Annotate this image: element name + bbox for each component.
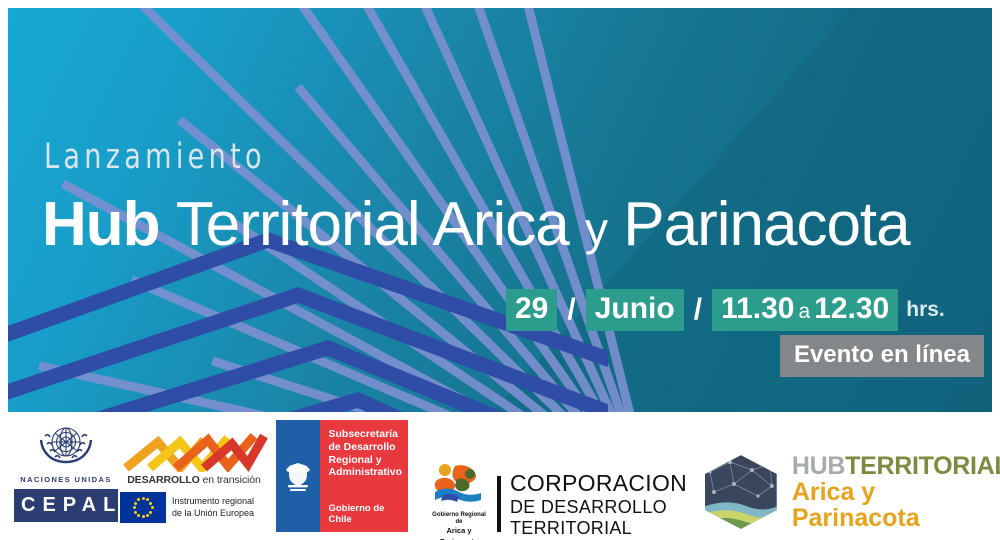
logo-eu-line-1: Instrumento regional xyxy=(172,496,254,506)
logo-corporacion-caption-1: Gobierno Regional de xyxy=(432,512,486,525)
logo-corporacion-line-3: TERRITORIAL xyxy=(510,518,687,539)
logo-cepal-acronym: CEPAL xyxy=(14,489,118,522)
logo-desarrollo-title-rest: en transición xyxy=(200,474,261,486)
time-join: a xyxy=(794,300,814,323)
event-datetime: 29 / Junio / 11.30a12.30 hrs. xyxy=(506,289,945,331)
logo-desarrollo-caption: DESARROLLO en transición xyxy=(120,474,268,486)
zigzag-arrows-icon xyxy=(120,428,268,472)
logo-cepal: NACIONES UNIDAS CEPAL xyxy=(14,418,118,522)
status-badge-online-event: Evento en línea xyxy=(780,335,984,377)
united-nations-icon xyxy=(35,418,97,474)
event-banner: Lanzamiento Hub Territorial Arica y Pari… xyxy=(0,0,1000,540)
title-conjunction: y xyxy=(585,203,607,255)
event-month: Junio xyxy=(586,289,684,331)
logo-corporacion-wordmark: CORPORACION DE DESARROLLO TERRITORIAL xyxy=(510,470,687,538)
logo-corporacion-divider xyxy=(497,476,501,532)
chile-coat-of-arms-icon xyxy=(276,420,320,532)
hexagon-network-icon xyxy=(700,452,782,532)
time-unit: hrs. xyxy=(898,298,945,322)
logo-subdere: Subsecretaría de Desarrollo Regional y A… xyxy=(276,420,408,532)
logo-eu-line-2: de la Unión Europea xyxy=(172,508,254,518)
logo-eu-instrument: Instrumento regional de la Unión Europea xyxy=(120,492,268,523)
logo-hub-word: HUB xyxy=(792,452,845,480)
logo-subdere-line-2: de Desarrollo xyxy=(328,441,402,454)
logo-corporacion-line-1: CORPORACION xyxy=(510,470,687,497)
logo-corporacion-line-2: DE DESARROLLO xyxy=(510,497,687,518)
logo-cepal-organization: NACIONES UNIDAS xyxy=(14,475,118,484)
logo-desarrollo-title-bold: DESARROLLO xyxy=(127,474,200,486)
logo-hub-region: Arica y Parinacota xyxy=(792,479,1000,532)
logo-subdere-line-3: Regional y xyxy=(328,454,402,467)
page-title: Hub Territorial Arica y Parinacota xyxy=(42,194,910,256)
date-separator-2: / xyxy=(684,293,712,327)
logo-subdere-text: Subsecretaría de Desarrollo Regional y A… xyxy=(320,420,408,532)
logo-corporacion-caption-2: Arica y Parinacota xyxy=(440,526,478,540)
title-territorial-arica: Territorial Arica xyxy=(176,190,569,259)
logo-eu-caption: Instrumento regional de la Unión Europea xyxy=(172,496,254,519)
event-time-range: 11.30a12.30 xyxy=(712,289,898,331)
logo-desarrollo-en-transicion: DESARROLLO en transición Instrumento reg… xyxy=(120,428,268,523)
title-hub: Hub xyxy=(42,190,160,259)
logo-territorial-word: TERRITORIAL xyxy=(845,452,1000,480)
hero-panel: Lanzamiento Hub Territorial Arica y Pari… xyxy=(8,8,992,412)
time-start: 11.30 xyxy=(721,292,794,325)
logo-corporacion-desarrollo-territorial: Gobierno Regional de Arica y Parinacota … xyxy=(430,462,687,540)
european-union-flag-icon xyxy=(120,492,166,523)
logo-hub-wordmark: HUBTERRITORIAL Arica y Parinacota xyxy=(792,453,1000,532)
logo-subdere-line-4: Administrativo xyxy=(328,466,402,479)
logo-subdere-line-1: Subsecretaría xyxy=(328,428,402,441)
page-kicker: Lanzamiento xyxy=(44,140,266,175)
event-day: 29 xyxy=(506,289,557,331)
title-parinacota: Parinacota xyxy=(623,190,909,259)
time-end: 12.30 xyxy=(814,292,889,325)
date-separator-1: / xyxy=(557,293,585,327)
gobierno-regional-arica-icon: Gobierno Regional de Arica y Parinacota xyxy=(430,462,488,540)
logo-corporacion-mark-caption: Gobierno Regional de Arica y Parinacota xyxy=(430,512,488,540)
logo-hub-territorial: HUBTERRITORIAL Arica y Parinacota xyxy=(700,452,1000,532)
logo-subdere-government: Gobierno de Chile xyxy=(328,503,408,525)
